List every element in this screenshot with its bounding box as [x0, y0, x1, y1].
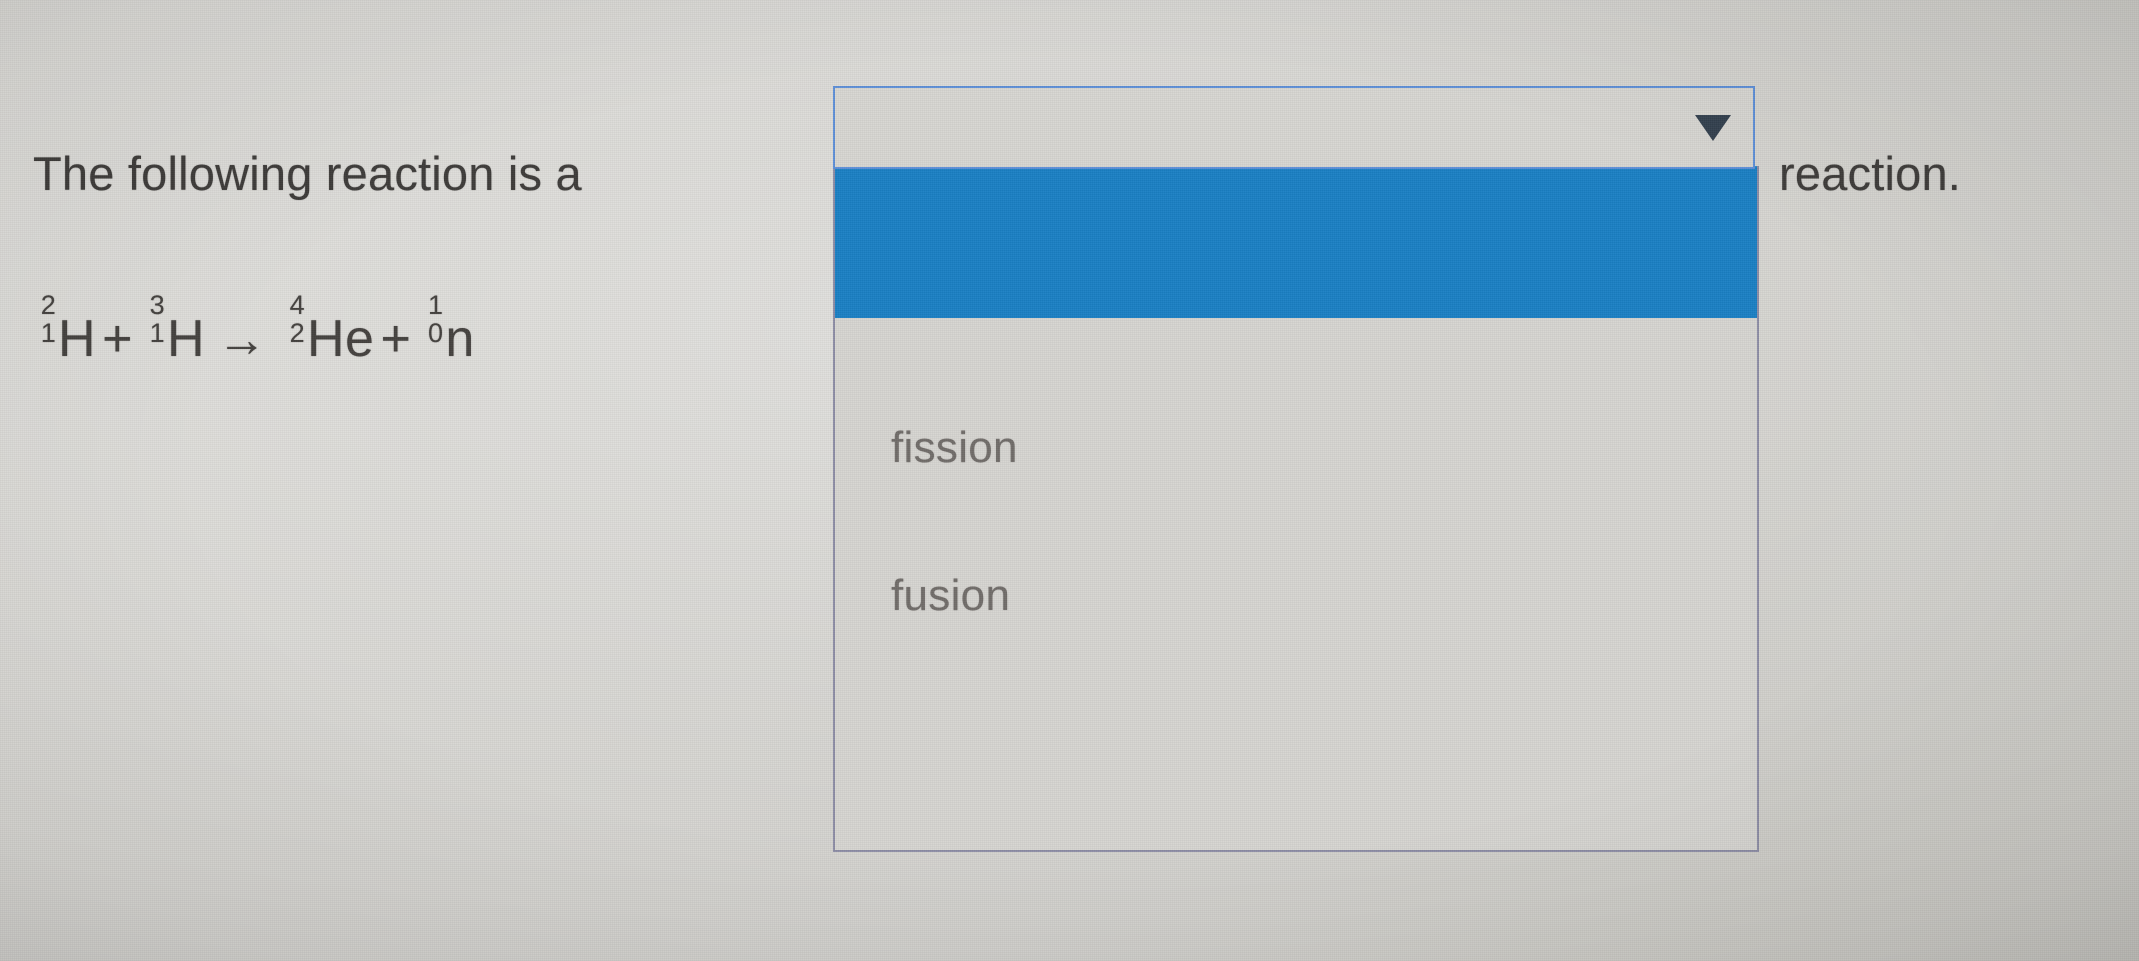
- atomic-number: 1: [150, 320, 166, 347]
- mass-number: 2: [41, 292, 57, 319]
- nuclide-helium: 4 2: [279, 304, 306, 356]
- reaction-arrow: →: [217, 312, 267, 367]
- element-symbol: H: [167, 310, 205, 368]
- reaction-type-dropdown-list[interactable]: fission fusion: [833, 166, 1759, 852]
- dropdown-option-fission[interactable]: fission: [835, 398, 1757, 498]
- nuclear-equation: 2 1 H+ 3 1 H→ 4 2 He+ 1 0 n: [30, 304, 475, 369]
- dropdown-option-fusion[interactable]: fusion: [835, 546, 1757, 646]
- plus-operator: +: [380, 310, 411, 368]
- select-toggle-button[interactable]: [1687, 88, 1739, 167]
- plus-operator: +: [102, 310, 133, 368]
- dropdown-option-blank[interactable]: [835, 166, 1757, 318]
- mass-number: 3: [150, 292, 166, 319]
- element-symbol: n: [445, 310, 474, 368]
- nuclide-deuterium: 2 1: [30, 304, 57, 356]
- atomic-number: 1: [41, 320, 57, 347]
- question-prompt-leading-text: The following reaction is a: [33, 146, 582, 201]
- element-symbol: H: [58, 310, 96, 368]
- mass-number: 1: [428, 292, 444, 319]
- reaction-type-select[interactable]: [833, 86, 1755, 169]
- nuclide-neutron: 1 0: [417, 304, 444, 356]
- atomic-number: 0: [428, 320, 444, 347]
- atomic-number: 2: [290, 320, 306, 347]
- element-symbol: He: [307, 310, 374, 368]
- mass-number: 4: [290, 292, 306, 319]
- chevron-down-icon: [1695, 115, 1731, 141]
- question-prompt-trailing-text: reaction.: [1779, 146, 1961, 201]
- nuclide-tritium: 3 1: [139, 304, 166, 356]
- question-content: The following reaction is a reaction. 2 …: [0, 0, 2139, 961]
